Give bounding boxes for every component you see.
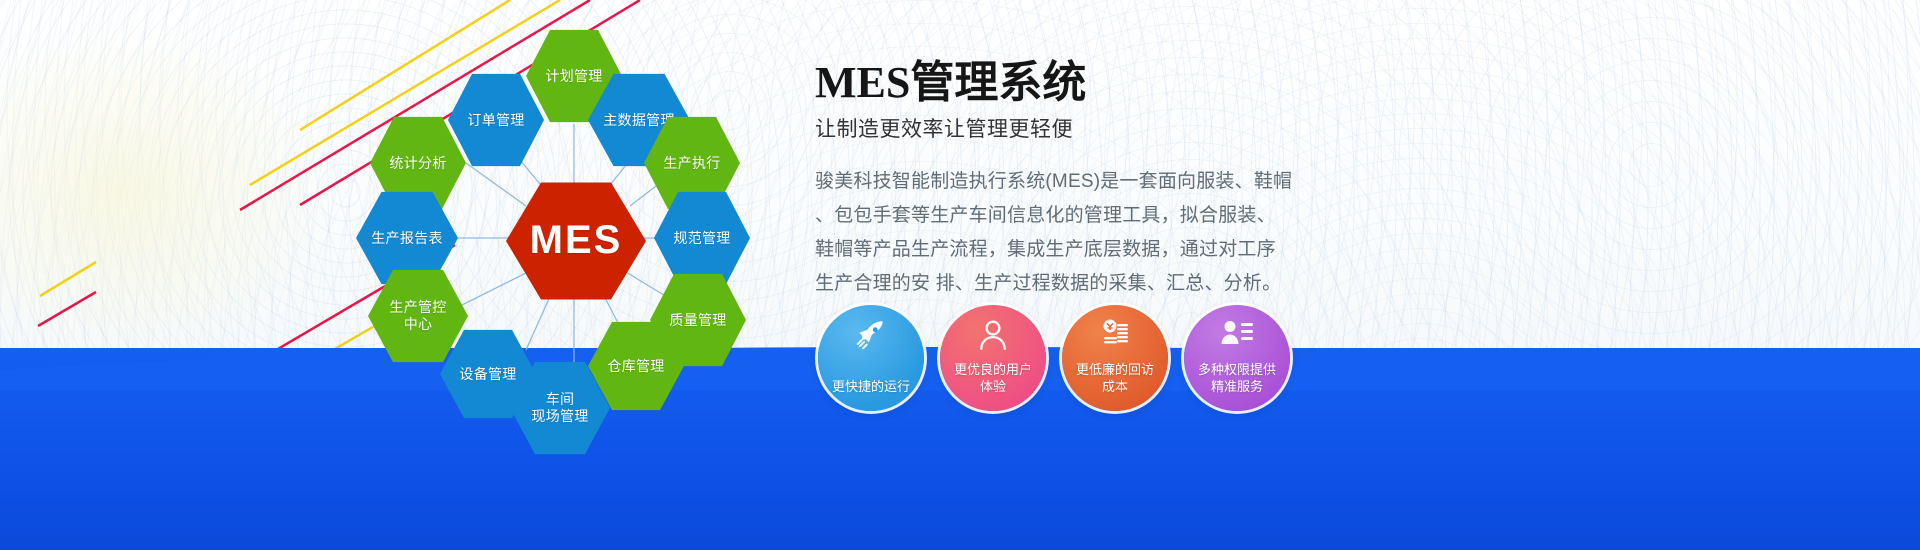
hex-node-label: 设备管理 xyxy=(459,366,516,383)
feature-badge-label: 更优良的用户体验 xyxy=(947,361,1039,395)
user-icon xyxy=(940,318,1046,352)
feature-badge-row: 更快捷的运行更优良的用户体验更低廉的回访成本多种权限提供精准服务 xyxy=(818,305,1290,411)
page-subtitle: 让制造更效率让管理更轻便 xyxy=(815,113,1515,143)
feature-badge[interactable]: 多种权限提供精准服务 xyxy=(1184,305,1290,411)
hex-node-label: 生产管控中心 xyxy=(389,299,446,332)
hex-node-label: 统计分析 xyxy=(389,155,446,172)
page-title: MES管理系统 xyxy=(815,58,1515,107)
description-paragraph: 骏美科技智能制造执行系统(MES)是一套面向服装、鞋帽、包包手套等生产车间信息化… xyxy=(815,165,1515,301)
feature-badge[interactable]: 更低廉的回访成本 xyxy=(1062,305,1168,411)
hex-node-shape: 车间现场管理 xyxy=(510,360,610,456)
description-line: 骏美科技智能制造执行系统(MES)是一套面向服装、鞋帽 xyxy=(815,165,1515,199)
hex-node-label: 车间现场管理 xyxy=(531,391,588,424)
hex-node-label: 生产报告表 xyxy=(371,230,443,247)
mes-marketing-banner: 计划管理订单管理主数据管理统计分析生产执行生产报告表规范管理生产管控中心质量管理… xyxy=(0,0,1920,550)
marketing-copy-block: MES管理系统 让制造更效率让管理更轻便 骏美科技智能制造执行系统(MES)是一… xyxy=(815,58,1515,301)
hex-node-label: 生产执行 xyxy=(663,155,720,172)
user-list-icon xyxy=(1184,318,1290,350)
feature-badge-label: 更快捷的运行 xyxy=(825,378,917,395)
description-line: 、包包手套等生产车间信息化的管理工具，拟合服装、 xyxy=(815,199,1515,233)
hex-node[interactable]: 车间现场管理 xyxy=(510,360,610,456)
rocket-icon xyxy=(818,318,924,352)
hex-node-label: 规范管理 xyxy=(673,230,730,247)
feature-badge-label: 多种权限提供精准服务 xyxy=(1191,361,1283,395)
coins-icon xyxy=(1062,318,1168,350)
feature-badge[interactable]: 更优良的用户体验 xyxy=(940,305,1046,411)
feature-badge-label: 更低廉的回访成本 xyxy=(1069,361,1161,395)
description-line: 鞋帽等产品生产流程，集成生产底层数据，通过对工序 xyxy=(815,233,1515,267)
hex-node-label: 仓库管理 xyxy=(607,358,664,375)
hex-node-label: 订单管理 xyxy=(467,112,524,129)
feature-badge[interactable]: 更快捷的运行 xyxy=(818,305,924,411)
hex-center-label: MES xyxy=(530,217,623,264)
description-line: 生产合理的安 排、生产过程数据的采集、汇总、分析。 xyxy=(815,267,1515,301)
mes-module-hexagon-diagram: 计划管理订单管理主数据管理统计分析生产执行生产报告表规范管理生产管控中心质量管理… xyxy=(330,10,800,440)
hex-node-center-mes[interactable]: MES xyxy=(506,180,646,302)
